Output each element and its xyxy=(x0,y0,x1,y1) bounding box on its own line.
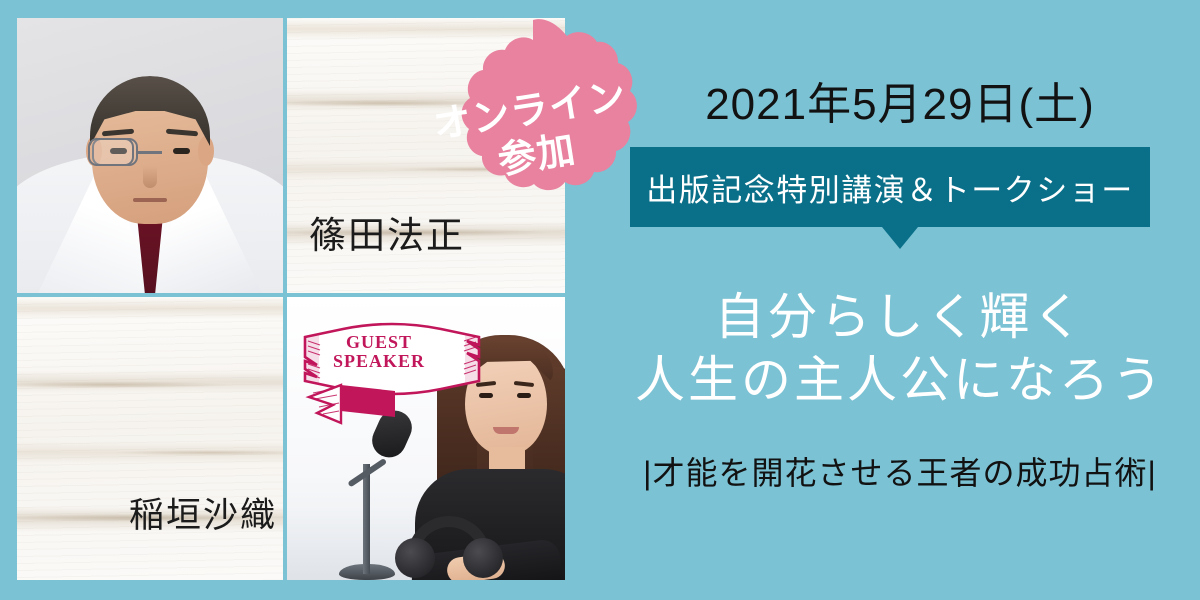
ribbon-label: GUEST SPEAKER xyxy=(299,333,459,372)
photo-host-portrait xyxy=(17,18,283,293)
headline-line-2: 人生の主人公になろう xyxy=(600,349,1200,412)
poster-canvas: 篠田法正 稲垣沙織 xyxy=(0,0,1200,600)
host-portrait-illustration xyxy=(17,18,283,293)
ribbon-line-2: SPEAKER xyxy=(299,352,459,371)
eyeglasses-icon xyxy=(88,138,212,168)
band-arrow-icon xyxy=(882,227,918,249)
guest-speaker-ribbon: GUEST SPEAKER xyxy=(299,319,485,429)
event-type-label: 出版記念特別講演＆トークショー xyxy=(646,165,1134,210)
speaker-name-guest: 稲垣沙織 xyxy=(129,487,277,538)
event-headline: 自分らしく輝く 人生の主人公になろう xyxy=(600,286,1200,412)
event-date: 2021年5月29日(土) xyxy=(600,68,1200,132)
event-type-band: 出版記念特別講演＆トークショー xyxy=(630,147,1150,227)
photo-guest-portrait: GUEST SPEAKER xyxy=(287,297,565,580)
ribbon-line-1: GUEST xyxy=(299,333,459,352)
event-info-panel: 2021年5月29日(土) 出版記念特別講演＆トークショー 自分らしく輝く 人生… xyxy=(600,0,1200,600)
headline-line-1: 自分らしく輝く xyxy=(600,286,1200,349)
event-subtitle: |才能を開花させる王者の成功占術| xyxy=(600,448,1200,494)
photo-guest-nameplate: 稲垣沙織 xyxy=(17,297,283,580)
